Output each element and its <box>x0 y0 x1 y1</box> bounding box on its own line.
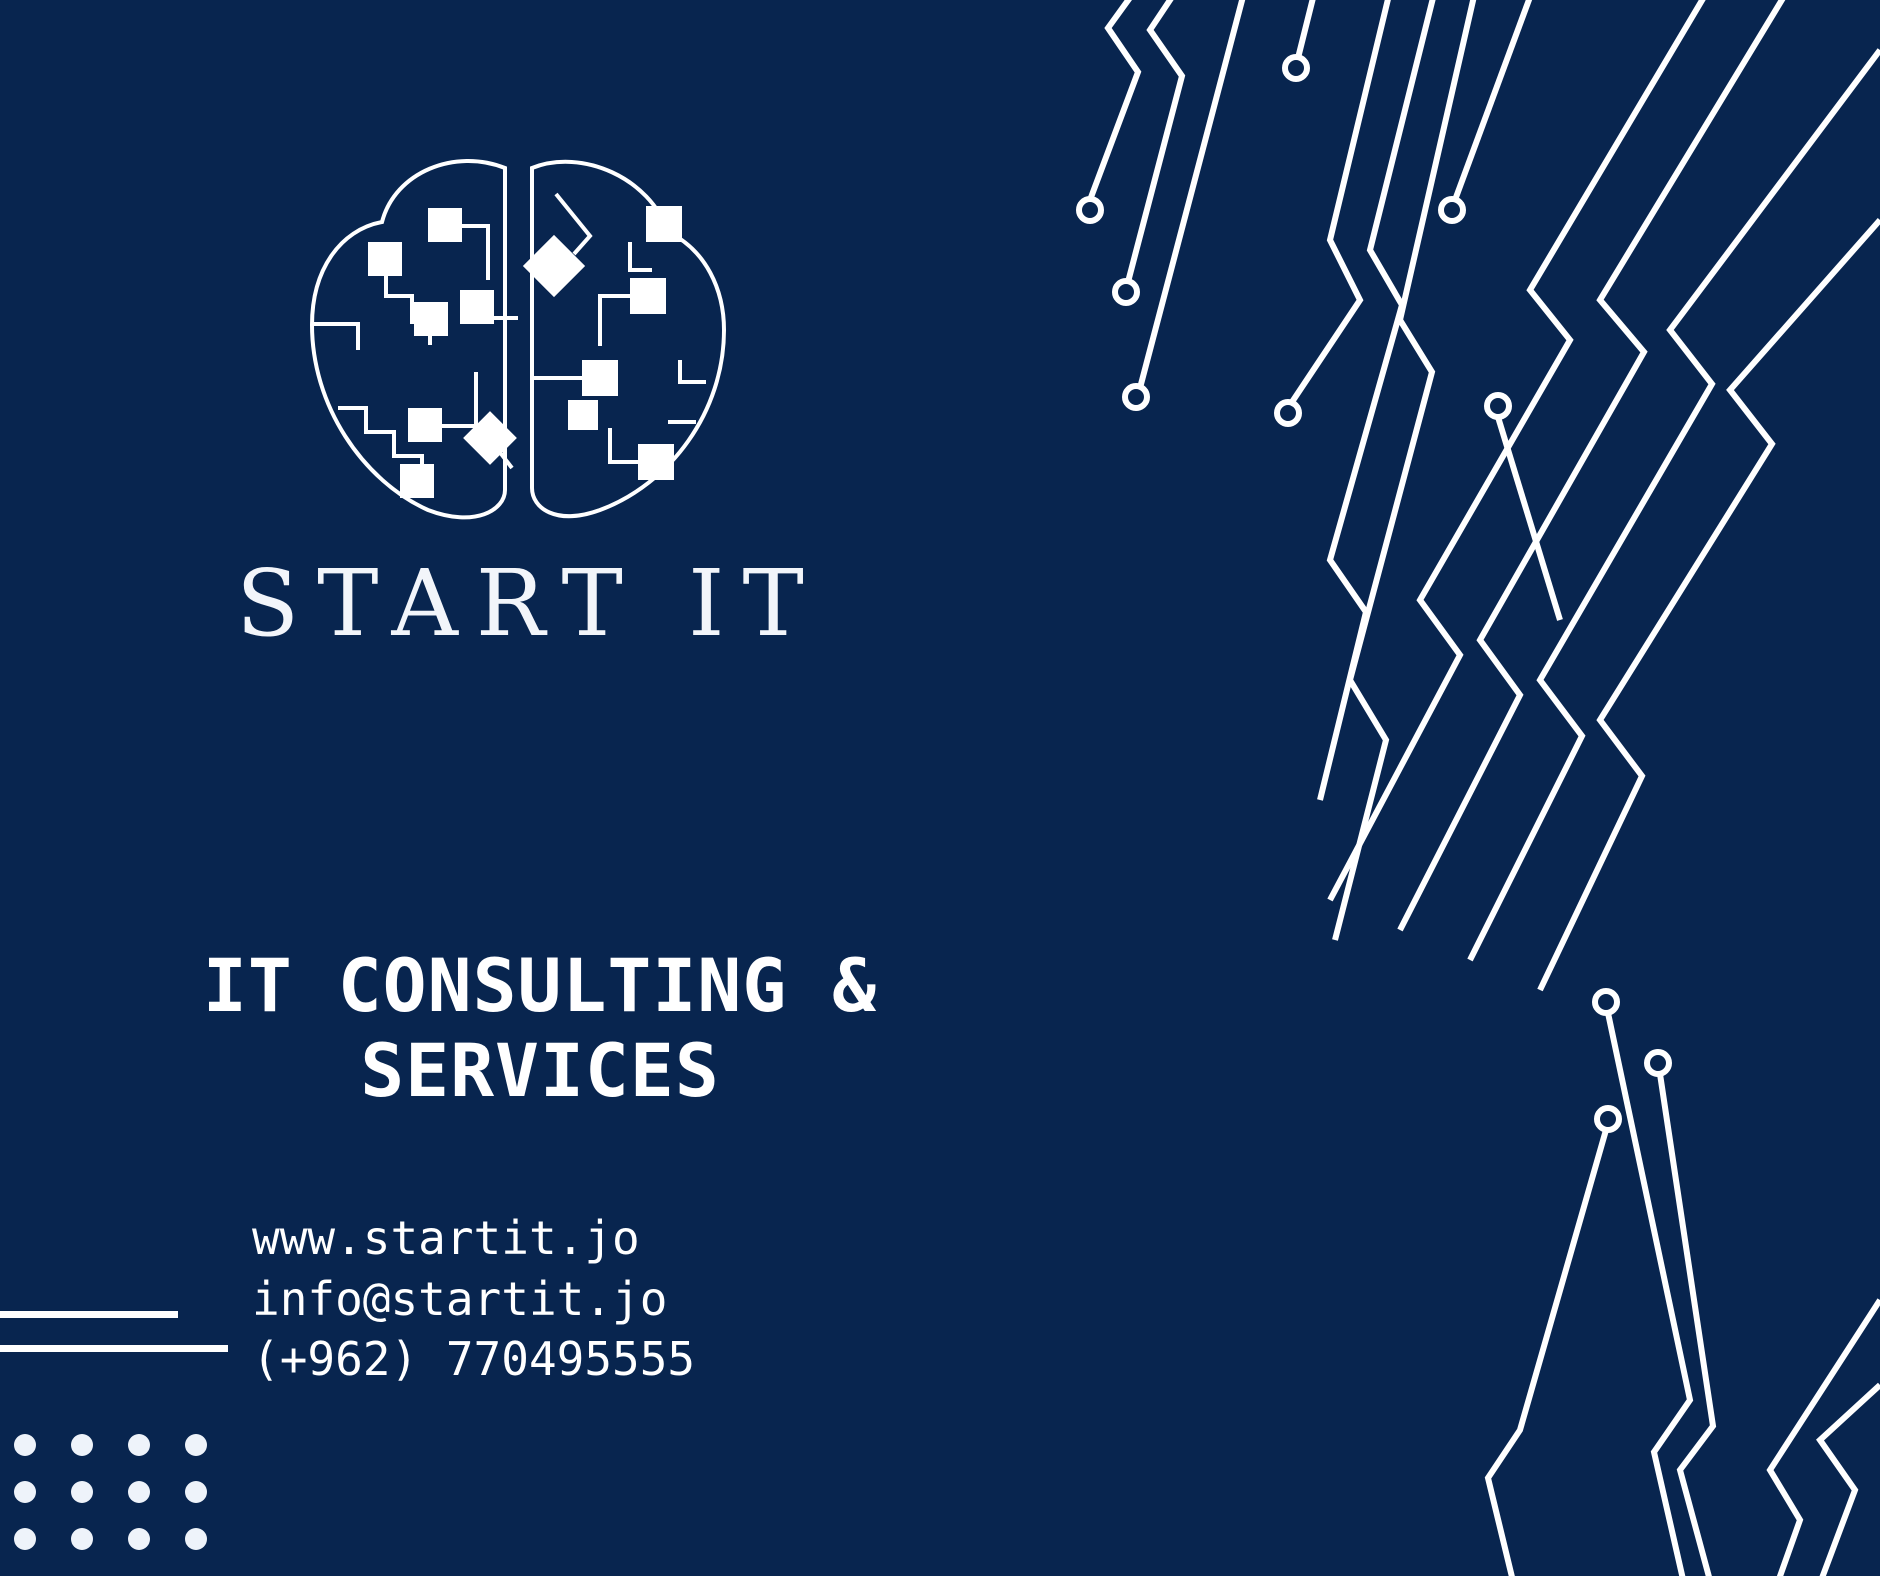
contact-block: www.startit.jo info@startit.jo (+962) 77… <box>252 1208 695 1390</box>
brain-circuit-icon <box>300 150 740 530</box>
left-rule-bottom <box>0 1345 228 1352</box>
grid-dot <box>128 1481 150 1503</box>
grid-dot <box>185 1434 207 1456</box>
grid-dot <box>71 1481 93 1503</box>
grid-dot <box>14 1434 36 1456</box>
grid-dot <box>14 1481 36 1503</box>
grid-dot <box>14 1528 36 1550</box>
poster-canvas: START IT IT CONSULTING & SERVICES www.st… <box>0 0 1880 1576</box>
left-rule-top <box>0 1311 178 1318</box>
grid-dot <box>128 1434 150 1456</box>
headline-line-1: IT CONSULTING & <box>20 945 1060 1030</box>
dot-grid-decoration <box>14 1434 242 1575</box>
page-title: IT CONSULTING & SERVICES <box>20 945 1060 1114</box>
contact-website[interactable]: www.startit.jo <box>252 1208 695 1269</box>
brand-block: START IT <box>0 150 1040 653</box>
grid-dot <box>128 1528 150 1550</box>
grid-dot <box>185 1528 207 1550</box>
grid-dot <box>185 1481 207 1503</box>
grid-dot <box>71 1528 93 1550</box>
grid-dot <box>71 1434 93 1456</box>
contact-phone[interactable]: (+962) 770495555 <box>252 1329 695 1390</box>
headline-line-2: SERVICES <box>20 1030 1060 1115</box>
contact-email[interactable]: info@startit.jo <box>252 1269 695 1330</box>
brand-wordmark: START IT <box>0 556 1040 653</box>
